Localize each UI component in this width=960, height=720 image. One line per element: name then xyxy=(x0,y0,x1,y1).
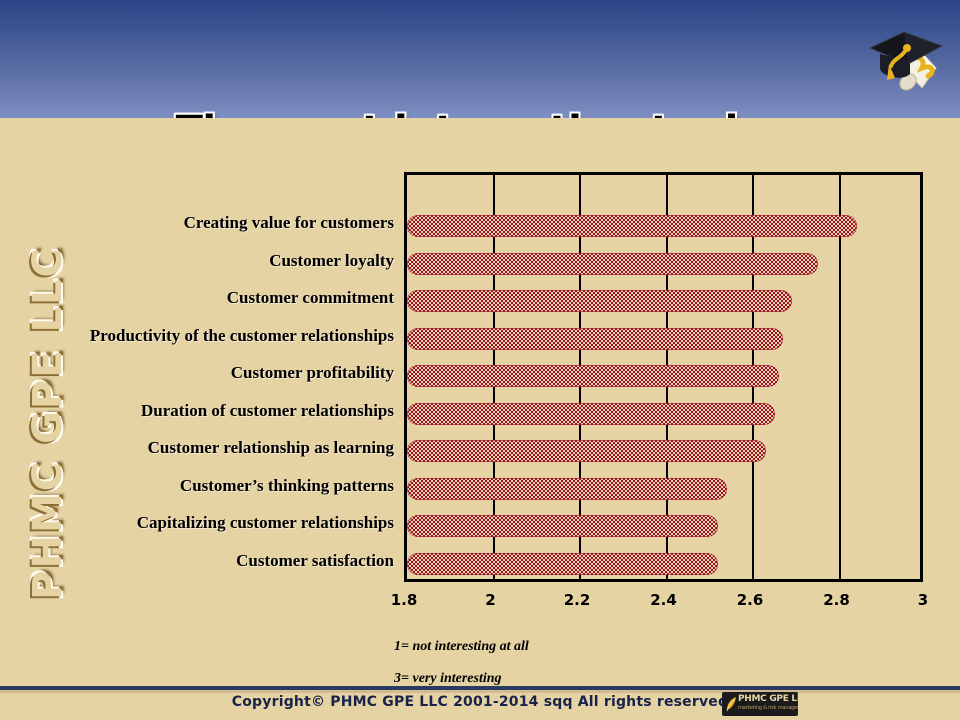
chart-category-labels: Creating value for customersCustomer loy… xyxy=(0,172,400,582)
bar-row xyxy=(407,328,783,350)
bar xyxy=(407,478,727,500)
bar-row xyxy=(407,403,775,425)
bar xyxy=(407,328,783,350)
bar xyxy=(407,365,779,387)
bar-row xyxy=(407,290,792,312)
x-tick-label: 2.2 xyxy=(547,591,607,609)
chart-category-label: Customer commitment xyxy=(0,288,394,308)
graduation-cap-icon xyxy=(858,14,954,110)
chart-category-label: Customer’s thinking patterns xyxy=(0,476,394,496)
bar-row xyxy=(407,253,818,275)
chart-category-label: Customer profitability xyxy=(0,363,394,383)
chart-plot-area xyxy=(404,172,923,582)
bar xyxy=(407,253,818,275)
chart-category-label: Productivity of the customer relationshi… xyxy=(0,326,394,346)
bar-row xyxy=(407,215,857,237)
bar-row xyxy=(407,365,779,387)
chart-scale-note: 1= not interesting at all 3= very intere… xyxy=(380,623,529,703)
footer-divider xyxy=(0,686,960,690)
scale-note-high: 3= very interesting xyxy=(394,671,502,686)
bar-row xyxy=(407,515,718,537)
chart-category-label: Duration of customer relationships xyxy=(0,401,394,421)
bar xyxy=(407,553,718,575)
chart-category-label: Creating value for customers xyxy=(0,213,394,233)
bar-row xyxy=(407,478,727,500)
chart-bars xyxy=(407,175,920,579)
bar-row xyxy=(407,440,766,462)
bar xyxy=(407,403,775,425)
chart-category-label: Customer loyalty xyxy=(0,251,394,271)
chart-category-label: Customer relationship as learning xyxy=(0,438,394,458)
bar xyxy=(407,440,766,462)
leaf-logo-icon xyxy=(725,696,737,712)
footer-logo-text: PHMC GPE LLC xyxy=(738,694,798,704)
x-tick-label: 2.6 xyxy=(720,591,780,609)
x-tick-label: 2.8 xyxy=(807,591,867,609)
page-title: The most interesting topics in Marketing… xyxy=(0,6,960,118)
x-tick-label: 2 xyxy=(461,591,521,609)
bar xyxy=(407,515,718,537)
bar xyxy=(407,215,857,237)
x-tick-label: 3 xyxy=(893,591,953,609)
bar-row xyxy=(407,553,718,575)
footer-logo: PHMC GPE LLC marketing & risk management xyxy=(722,692,798,716)
x-tick-label: 2.4 xyxy=(634,591,694,609)
slide-header: The most interesting topics in Marketing… xyxy=(0,0,960,118)
scale-note-low: 1= not interesting at all xyxy=(394,639,529,654)
page-title-line-1: The most interesting topics xyxy=(0,106,960,118)
chart-category-label: Capitalizing customer relationships xyxy=(0,513,394,533)
chart-category-label: Customer satisfaction xyxy=(0,551,394,571)
bar xyxy=(407,290,792,312)
chart: Creating value for customersCustomer loy… xyxy=(0,118,960,687)
footer-copyright: Copyright© PHMC GPE LLC 2001-2014 sqq Al… xyxy=(0,694,960,710)
footer-logo-subtitle: marketing & risk management xyxy=(738,705,798,711)
x-tick-label: 1.8 xyxy=(374,591,434,609)
